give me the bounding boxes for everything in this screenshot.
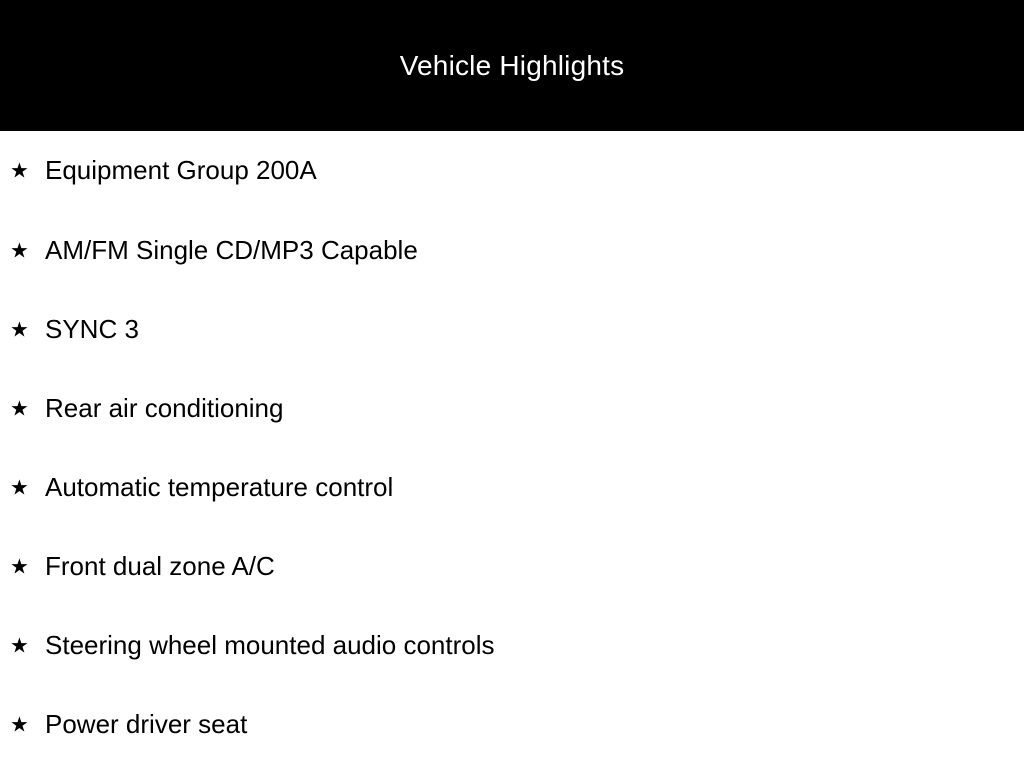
star-icon: ★: [10, 477, 30, 498]
star-icon: ★: [10, 240, 30, 261]
list-item: ★ AM/FM Single CD/MP3 Capable: [0, 211, 1024, 290]
list-item-label: Rear air conditioning: [45, 394, 283, 424]
list-item: ★ Front dual zone A/C: [0, 527, 1024, 606]
list-item-label: Equipment Group 200A: [45, 156, 317, 186]
list-item: ★ Automatic temperature control: [0, 448, 1024, 527]
list-item-label: Power driver seat: [45, 710, 247, 740]
list-item-label: Steering wheel mounted audio controls: [45, 631, 495, 661]
star-icon: ★: [10, 714, 30, 735]
star-icon: ★: [10, 161, 30, 182]
star-icon: ★: [10, 556, 30, 577]
list-item: ★ Rear air conditioning: [0, 369, 1024, 448]
header-bar: Vehicle Highlights: [0, 0, 1024, 131]
list-item-label: Automatic temperature control: [45, 473, 393, 503]
list-item: ★ SYNC 3: [0, 290, 1024, 369]
list-item-label: SYNC 3: [45, 315, 139, 345]
vehicle-highlights-list: ★ Equipment Group 200A ★ AM/FM Single CD…: [0, 131, 1024, 764]
list-item-label: AM/FM Single CD/MP3 Capable: [45, 236, 418, 266]
list-item: ★ Power driver seat: [0, 685, 1024, 764]
star-icon: ★: [10, 319, 30, 340]
list-item: ★ Equipment Group 200A: [0, 131, 1024, 211]
star-icon: ★: [10, 635, 30, 656]
vehicle-highlights-page: Vehicle Highlights ★ Equipment Group 200…: [0, 0, 1024, 768]
list-item-label: Front dual zone A/C: [45, 552, 275, 582]
star-icon: ★: [10, 398, 30, 419]
page-title: Vehicle Highlights: [400, 52, 625, 80]
list-item: ★ Steering wheel mounted audio controls: [0, 606, 1024, 685]
